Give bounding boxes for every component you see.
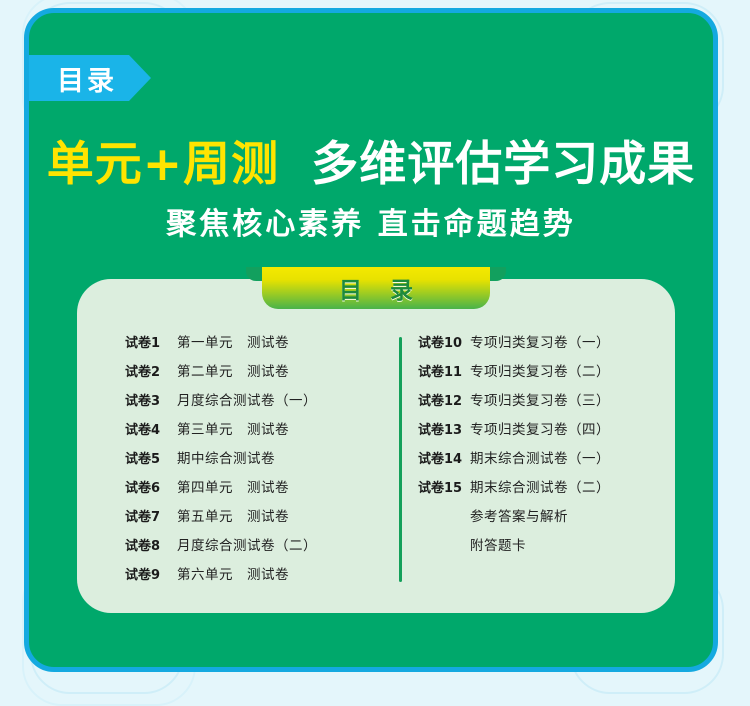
- catalog-row-number: 试卷8: [125, 535, 177, 554]
- catalog-row-number: 试卷13: [418, 419, 470, 438]
- catalog-row[interactable]: 试卷8月度综合测试卷（二）: [125, 534, 376, 563]
- catalog-row[interactable]: 试卷10专项归类复习卷（一）: [418, 331, 675, 360]
- catalog-row-number: 试卷4: [125, 419, 177, 438]
- catalog-row-number: 试卷6: [125, 477, 177, 496]
- catalog-banner-label: 目 录: [329, 271, 423, 305]
- catalog-row-number: 试卷1: [125, 332, 177, 351]
- catalog-row-title: 期末综合测试卷（一）: [470, 447, 610, 467]
- catalog-row-title: 期中综合测试卷: [177, 447, 275, 467]
- banner-ear-left-icon: [246, 267, 262, 281]
- catalog-row[interactable]: 试卷6第四单元 测试卷: [125, 476, 376, 505]
- catalog-row[interactable]: 试卷7第五单元 测试卷: [125, 505, 376, 534]
- catalog-column-left: 试卷1第一单元 测试卷试卷2第二单元 测试卷试卷3月度综合测试卷（一）试卷4第三…: [77, 331, 376, 592]
- catalog-row-title: 月度综合测试卷（二）: [177, 534, 317, 554]
- catalog-row-number: 试卷12: [418, 390, 470, 409]
- catalog-row-number: 试卷9: [125, 564, 177, 583]
- catalog-row-number: 试卷15: [418, 477, 470, 496]
- catalog-row-number: 试卷14: [418, 448, 470, 467]
- catalog-row-title: 第三单元 测试卷: [177, 418, 289, 438]
- catalog-row[interactable]: 试卷1第一单元 测试卷: [125, 331, 376, 360]
- catalog-tab: 目录: [29, 55, 151, 101]
- catalog-row[interactable]: 试卷15期末综合测试卷（二）: [418, 476, 675, 505]
- catalog-row[interactable]: 试卷2第二单元 测试卷: [125, 360, 376, 389]
- catalog-row-number: 试卷11: [418, 361, 470, 380]
- page-subtitle: 聚焦核心素养 直击命题趋势: [29, 199, 713, 243]
- catalog-row-number: 试卷3: [125, 390, 177, 409]
- catalog-column-right: 试卷10专项归类复习卷（一）试卷11专项归类复习卷（二）试卷12专项归类复习卷（…: [376, 331, 675, 592]
- catalog-row[interactable]: 试卷4第三单元 测试卷: [125, 418, 376, 447]
- catalog-tab-label: 目录: [57, 59, 117, 98]
- catalog-row-title: 第六单元 测试卷: [177, 563, 289, 583]
- catalog-banner-wrap: 目 录: [77, 267, 675, 309]
- catalog-row-title: 专项归类复习卷（二）: [470, 360, 610, 380]
- catalog-row[interactable]: 试卷13专项归类复习卷（四）: [418, 418, 675, 447]
- catalog-row-title: 第四单元 测试卷: [177, 476, 289, 496]
- banner-ear-right-icon: [490, 267, 506, 281]
- catalog-row-title: 专项归类复习卷（四）: [470, 418, 610, 438]
- catalog-row[interactable]: 试卷14期末综合测试卷（一）: [418, 447, 675, 476]
- page-title-main: 多维评估学习成果: [311, 137, 695, 192]
- catalog-row[interactable]: 附答题卡: [418, 534, 675, 563]
- catalog-card: 目 录 试卷1第一单元 测试卷试卷2第二单元 测试卷试卷3月度综合测试卷（一）试…: [77, 279, 675, 613]
- catalog-row[interactable]: 试卷9第六单元 测试卷: [125, 563, 376, 592]
- catalog-row-title: 第二单元 测试卷: [177, 360, 289, 380]
- catalog-row-title: 期末综合测试卷（二）: [470, 476, 610, 496]
- catalog-row-number: 试卷7: [125, 506, 177, 525]
- catalog-row-title: 专项归类复习卷（一）: [470, 331, 610, 351]
- catalog-row-title: 第五单元 测试卷: [177, 505, 289, 525]
- catalog-row-number: 试卷5: [125, 448, 177, 467]
- catalog-row-title: 专项归类复习卷（三）: [470, 389, 610, 409]
- catalog-row[interactable]: 试卷3月度综合测试卷（一）: [125, 389, 376, 418]
- catalog-row-number: 试卷2: [125, 361, 177, 380]
- catalog-row[interactable]: 试卷11专项归类复习卷（二）: [418, 360, 675, 389]
- catalog-panel: 目录 单元+周测 多维评估学习成果 聚焦核心素养 直击命题趋势 目 录 试卷1第…: [24, 8, 718, 672]
- page-title: 单元+周测 多维评估学习成果: [29, 125, 713, 194]
- catalog-row-title: 月度综合测试卷（一）: [177, 389, 317, 409]
- catalog-row[interactable]: 参考答案与解析: [418, 505, 675, 534]
- catalog-row[interactable]: 试卷5期中综合测试卷: [125, 447, 376, 476]
- catalog-columns: 试卷1第一单元 测试卷试卷2第二单元 测试卷试卷3月度综合测试卷（一）试卷4第三…: [77, 331, 675, 592]
- catalog-row-title: 附答题卡: [470, 534, 526, 554]
- catalog-banner: 目 录: [262, 267, 490, 309]
- catalog-row[interactable]: 试卷12专项归类复习卷（三）: [418, 389, 675, 418]
- catalog-row-number: 试卷10: [418, 332, 470, 351]
- catalog-row-title: 第一单元 测试卷: [177, 331, 289, 351]
- page-title-highlight: 单元+周测: [47, 137, 279, 192]
- catalog-row-title: 参考答案与解析: [470, 505, 568, 525]
